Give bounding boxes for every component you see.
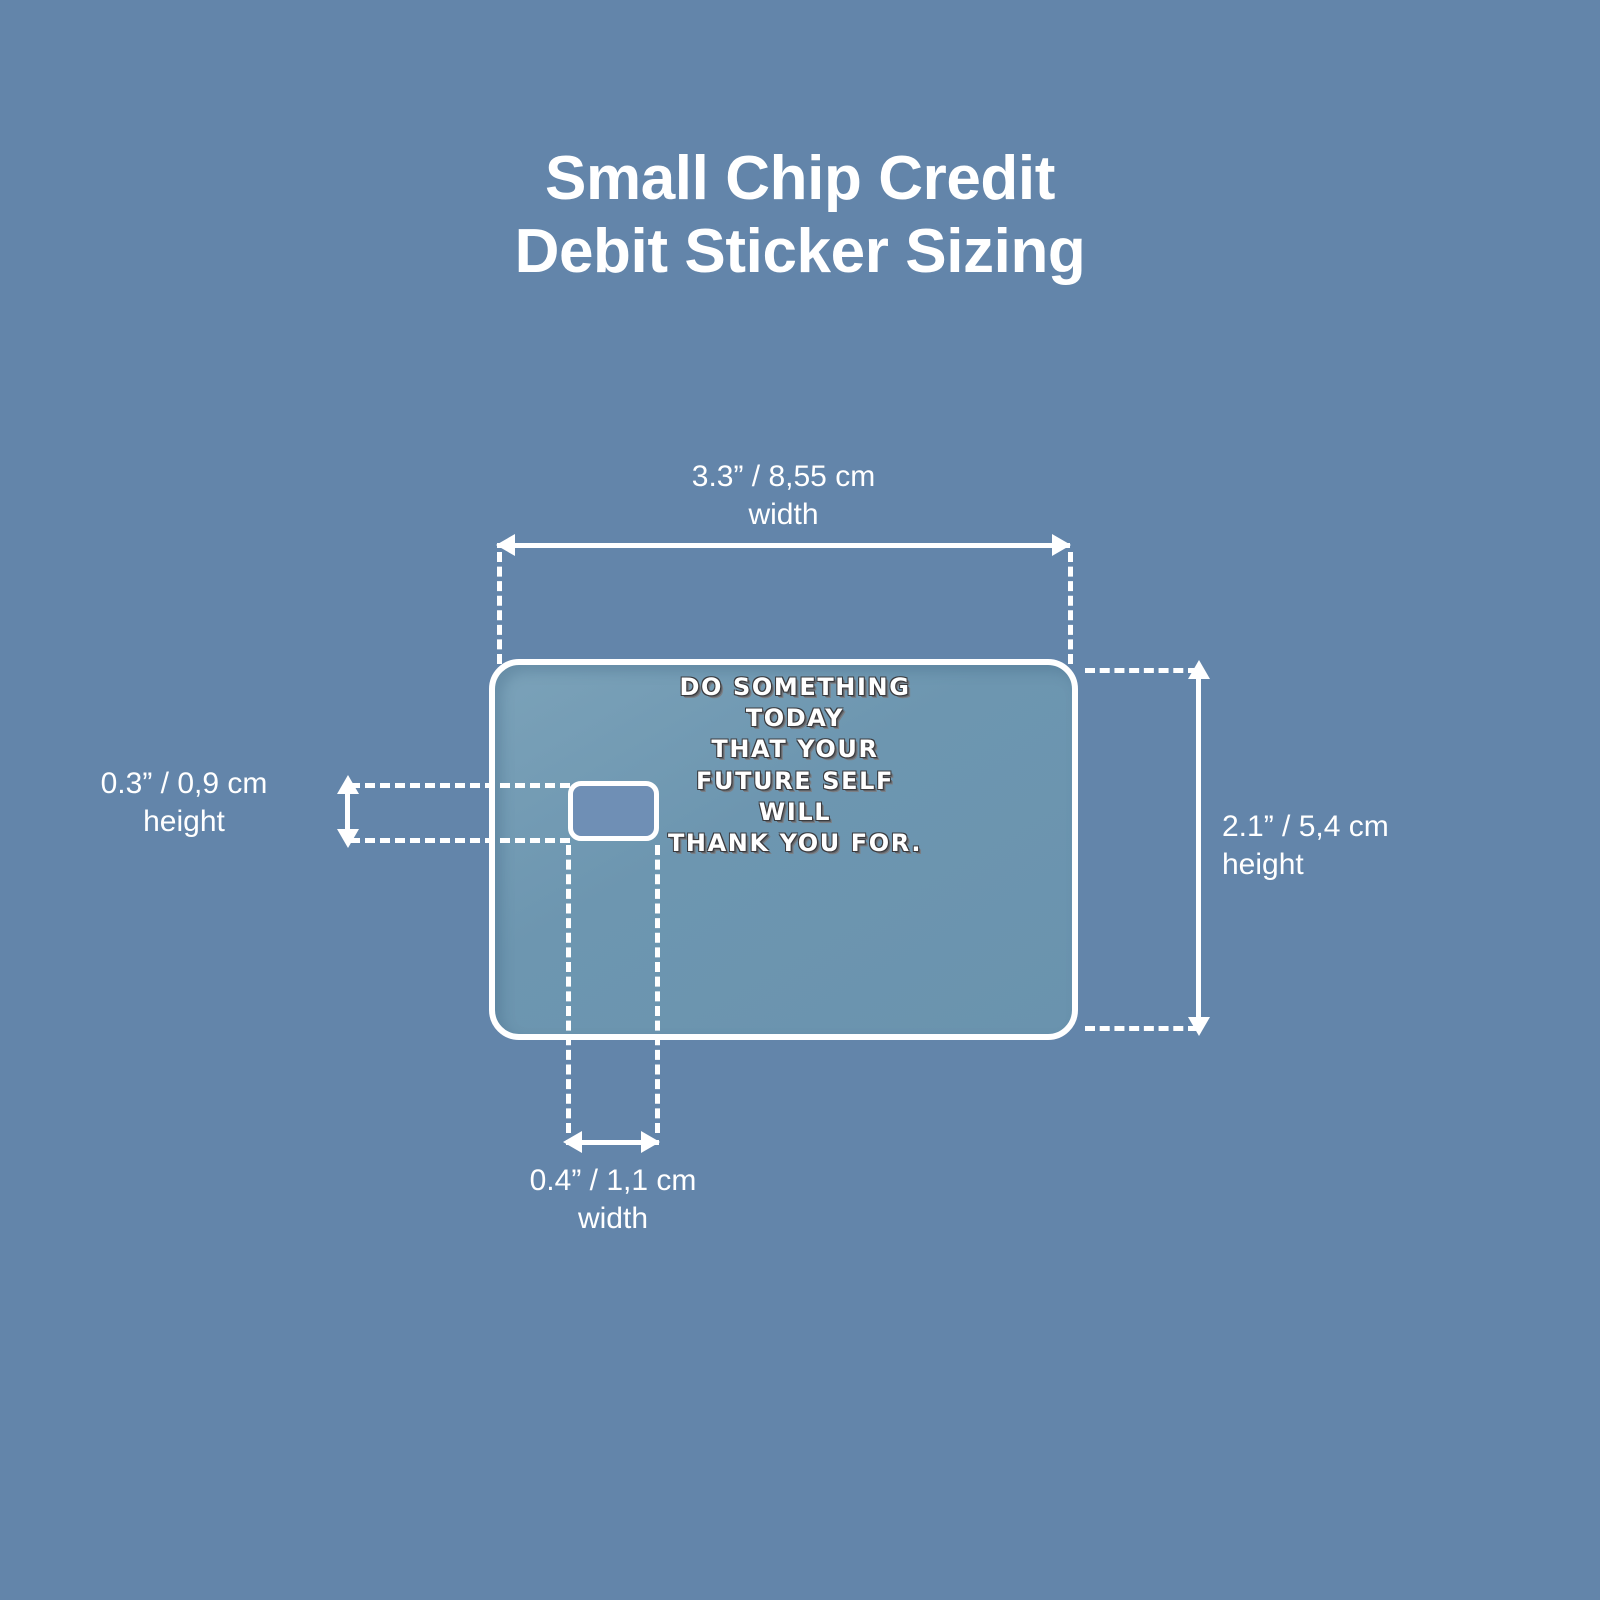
quote-line-1: DO SOMETHING [640,672,950,703]
leader-line-chip-top [350,783,570,788]
quote-line-2: TODAY [640,703,950,734]
leader-line-card-bottom-right [1085,1026,1198,1031]
sizing-diagram: Small Chip Credit Debit Sticker Sizing D… [0,0,1600,1600]
quote-line-4: FUTURE SELF [640,766,950,797]
arrow-head-card-height-bottom [1188,1017,1210,1036]
leader-line-chip-bottom [350,838,570,843]
arrow-head-card-width-right [1052,534,1071,556]
arrow-head-chip-height-top [337,775,359,794]
label-card-height-unit: height [1222,846,1522,884]
page-title: Small Chip Credit Debit Sticker Sizing [0,142,1600,288]
label-chip-width: 0.4” / 1,1 cm width [458,1162,768,1237]
label-chip-height-unit: height [40,803,328,841]
leader-line-card-right-top [1068,552,1073,664]
label-card-height-value: 2.1” / 5,4 cm [1222,808,1522,846]
measure-line-card-width [497,543,1070,548]
arrow-head-card-height-top [1188,660,1210,679]
page-title-line-1: Small Chip Credit [0,142,1600,215]
leader-line-chip-left [566,845,571,1133]
label-card-height: 2.1” / 5,4 cm height [1222,808,1522,883]
label-chip-width-unit: width [458,1200,768,1238]
quote-line-5: WILL [640,797,950,828]
quote-line-6: THANK YOU FOR. [640,828,950,859]
label-chip-height-value: 0.3” / 0,9 cm [40,765,328,803]
leader-line-card-top-right [1085,668,1198,673]
label-card-width: 3.3” / 8,55 cm width [497,458,1070,533]
arrow-head-chip-width-left [563,1131,582,1153]
label-chip-height: 0.3” / 0,9 cm height [40,765,328,840]
label-card-width-unit: width [497,496,1070,534]
arrow-head-chip-height-bottom [337,829,359,848]
label-card-width-value: 3.3” / 8,55 cm [497,458,1070,496]
leader-line-card-left-top [497,552,502,664]
label-chip-width-value: 0.4” / 1,1 cm [458,1162,768,1200]
arrow-head-card-width-left [496,534,515,556]
quote-line-3: THAT YOUR [640,734,950,765]
measure-line-card-height [1196,668,1201,1028]
arrow-head-chip-width-right [641,1131,660,1153]
sticker-quote-text: DO SOMETHING TODAY THAT YOUR FUTURE SELF… [640,672,950,859]
leader-line-chip-right [655,845,660,1133]
page-title-line-2: Debit Sticker Sizing [0,215,1600,288]
